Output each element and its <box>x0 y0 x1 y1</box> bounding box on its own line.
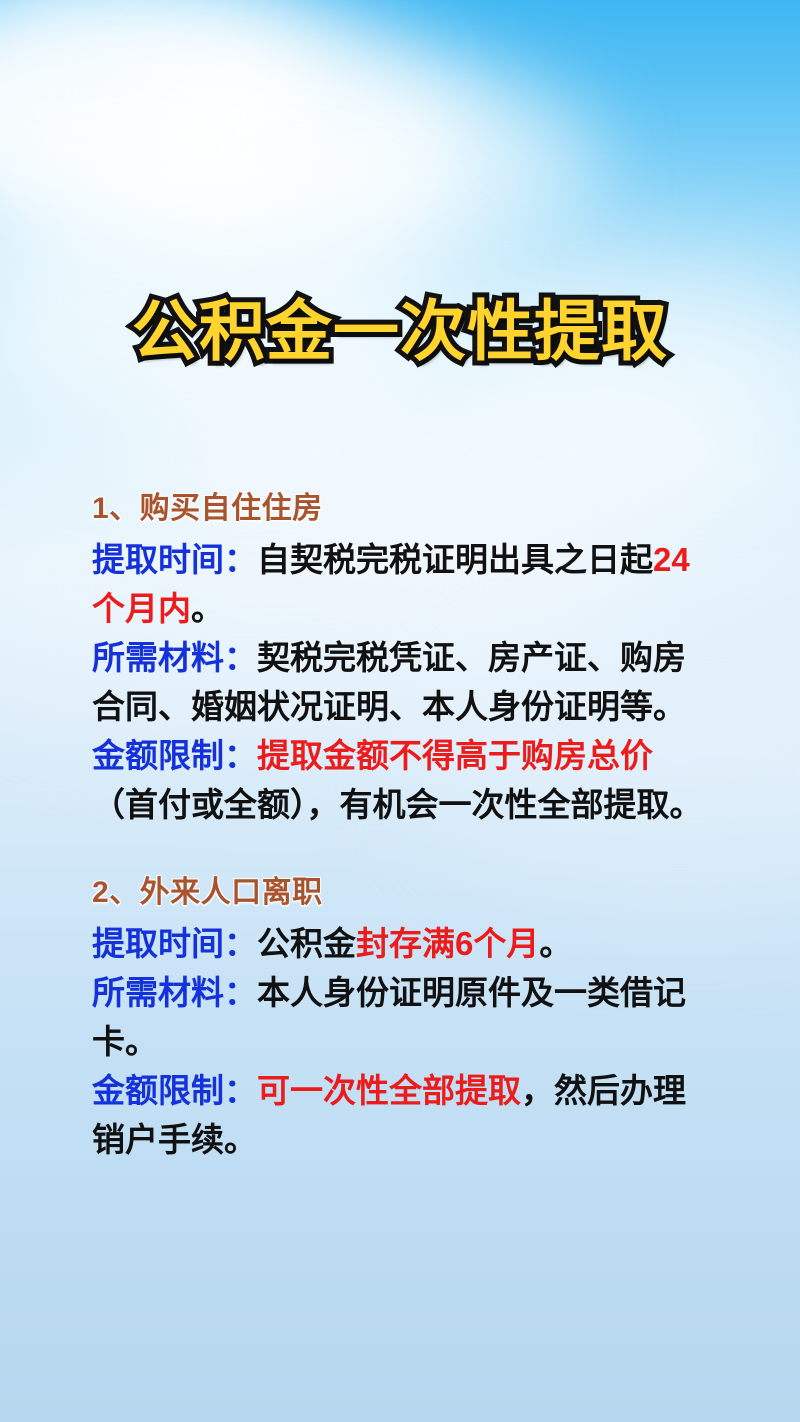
info-section: 1、购买自住住房提取时间：自契税完税证明出具之日起24个月内。所需材料：契税完税… <box>92 487 706 829</box>
info-row: 提取时间：公积金封存满6个月。 <box>92 919 706 968</box>
info-row-label: 所需材料： <box>92 639 257 676</box>
highlighted-text: 提取金额不得高于购房总价 <box>257 737 653 774</box>
info-row: 金额限制：可一次性全部提取，然后办理销户手续。 <box>92 1066 706 1164</box>
info-row: 金额限制：提取金额不得高于购房总价（首付或全额），有机会一次性全部提取。 <box>92 731 706 829</box>
headline-container: 公积金一次性提取 <box>0 296 800 367</box>
poster-body: 1、购买自住住房提取时间：自契税完税证明出具之日起24个月内。所需材料：契税完税… <box>92 487 706 1164</box>
info-row: 所需材料：本人身份证明原件及一类借记卡。 <box>92 968 706 1066</box>
info-row-text: 。 <box>191 590 224 627</box>
poster-headline: 公积金一次性提取 <box>132 296 668 367</box>
info-row-label: 提取时间： <box>92 925 257 962</box>
info-row-text: 。 <box>539 925 572 962</box>
highlighted-text: 封存满6个月 <box>356 925 539 962</box>
info-row-text: （首付或全额），有机会一次性全部提取。 <box>92 786 703 823</box>
section-heading: 1、购买自住住房 <box>92 487 706 531</box>
info-row-text: 自契税完税证明出具之日起 <box>257 541 653 578</box>
info-row-label: 所需材料： <box>92 974 257 1011</box>
poster-canvas: 公积金一次性提取 1、购买自住住房提取时间：自契税完税证明出具之日起24个月内。… <box>0 0 800 1422</box>
info-row-label: 提取时间： <box>92 541 257 578</box>
info-row: 提取时间：自契税完税证明出具之日起24个月内。 <box>92 535 706 633</box>
poster-content: 公积金一次性提取 1、购买自住住房提取时间：自契税完税证明出具之日起24个月内。… <box>0 0 800 1422</box>
highlighted-text: 可一次性全部提取 <box>257 1072 521 1109</box>
info-row-text: 公积金 <box>257 925 356 962</box>
info-row: 所需材料：契税完税凭证、房产证、购房合同、婚姻状况证明、本人身份证明等。 <box>92 633 706 731</box>
info-row-label: 金额限制： <box>92 737 257 774</box>
info-row-label: 金额限制： <box>92 1072 257 1109</box>
section-heading: 2、外来人口离职 <box>92 871 706 915</box>
info-section: 2、外来人口离职提取时间：公积金封存满6个月。所需材料：本人身份证明原件及一类借… <box>92 871 706 1164</box>
